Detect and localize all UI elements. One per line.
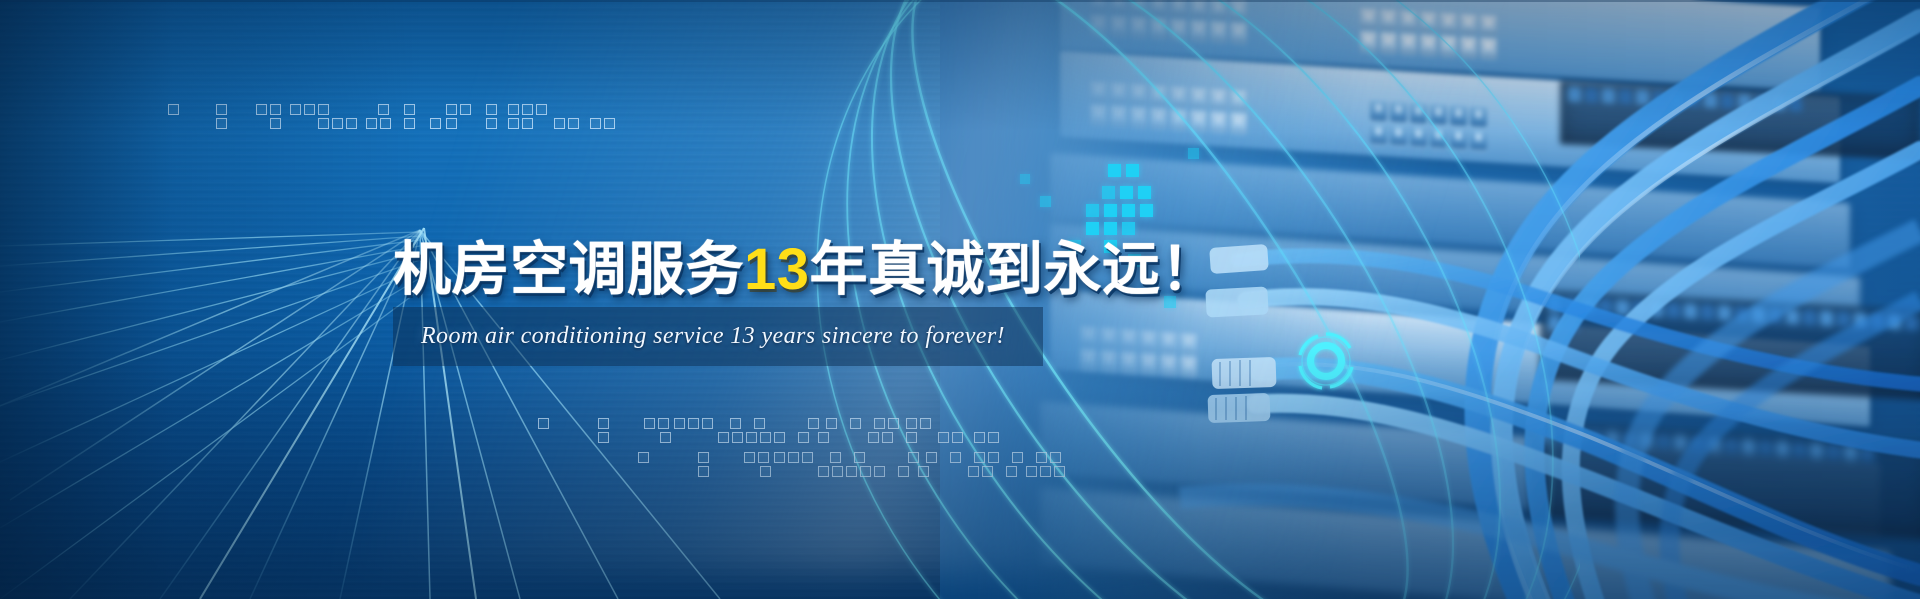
headline-punctuation: ！ xyxy=(1161,237,1220,302)
subtitle-bar: Room air conditioning service 13 years s… xyxy=(393,307,1043,366)
top-edge-line xyxy=(0,0,1920,2)
hero-banner: 机房空调服务13年真诚到永远！ Room air conditioning se… xyxy=(0,0,1920,599)
headline-highlight-number: 13 xyxy=(744,237,810,302)
headline-part1: 机房空调服务 xyxy=(393,237,744,302)
page-title: 机房空调服务13年真诚到永远！ xyxy=(393,241,1219,299)
headline-part2: 年真诚到永远 xyxy=(810,237,1161,302)
subtitle-text: Room air conditioning service 13 years s… xyxy=(421,323,1005,350)
